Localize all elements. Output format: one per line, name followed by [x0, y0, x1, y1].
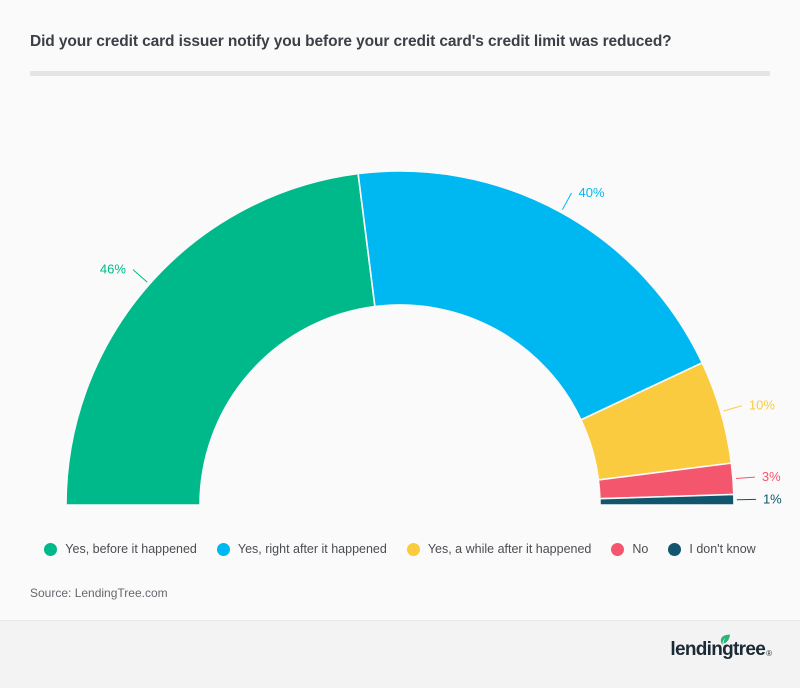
legend-color-swatch: [44, 543, 57, 556]
legend-color-swatch: [407, 543, 420, 556]
slice-leader-line: [562, 193, 571, 210]
footer-bar: lendingtree ®: [0, 620, 800, 688]
legend-item[interactable]: Yes, a while after it happened: [407, 542, 592, 556]
slice-leader-line: [724, 406, 742, 411]
chart-card: Did your credit card issuer notify you b…: [0, 0, 800, 620]
donut-chart-svg: 46%40%10%3%1%: [0, 88, 800, 518]
donut-slice[interactable]: [358, 171, 702, 420]
legend-item-label: No: [632, 542, 648, 556]
slice-percent-label: 10%: [749, 398, 775, 413]
page-title: Did your credit card issuer notify you b…: [30, 32, 775, 52]
legend-item[interactable]: No: [611, 542, 648, 556]
slice-leader-line: [736, 477, 755, 478]
chart-legend: Yes, before it happenedYes, right after …: [0, 533, 800, 565]
leaf-icon: [720, 631, 731, 650]
donut-slice[interactable]: [66, 174, 375, 505]
slice-percent-label: 46%: [100, 262, 126, 277]
legend-item-label: Yes, right after it happened: [238, 542, 387, 556]
logo-text: lendingtree: [670, 639, 765, 660]
leaf-icon-svg: [720, 634, 731, 646]
legend-color-swatch: [668, 543, 681, 556]
legend-item-label: Yes, a while after it happened: [428, 542, 592, 556]
logo-wordmark: lendingtree: [670, 640, 765, 659]
title-divider: [30, 71, 770, 76]
legend-item[interactable]: Yes, right after it happened: [217, 542, 387, 556]
slice-percent-label: 1%: [763, 491, 782, 506]
legend-item-label: I don't know: [689, 542, 755, 556]
slice-leader-line: [133, 270, 147, 283]
semicircle-donut-chart: 46%40%10%3%1%: [0, 88, 800, 518]
logo-trademark: ®: [766, 649, 772, 659]
legend-item[interactable]: I don't know: [668, 542, 755, 556]
legend-color-swatch: [611, 543, 624, 556]
legend-color-swatch: [217, 543, 230, 556]
slice-percent-label: 40%: [579, 185, 605, 200]
legend-item[interactable]: Yes, before it happened: [44, 542, 197, 556]
slice-percent-label: 3%: [762, 469, 781, 484]
source-note: Source: LendingTree.com: [30, 586, 168, 600]
lendingtree-logo: lendingtree ®: [670, 640, 772, 659]
legend-item-label: Yes, before it happened: [65, 542, 197, 556]
